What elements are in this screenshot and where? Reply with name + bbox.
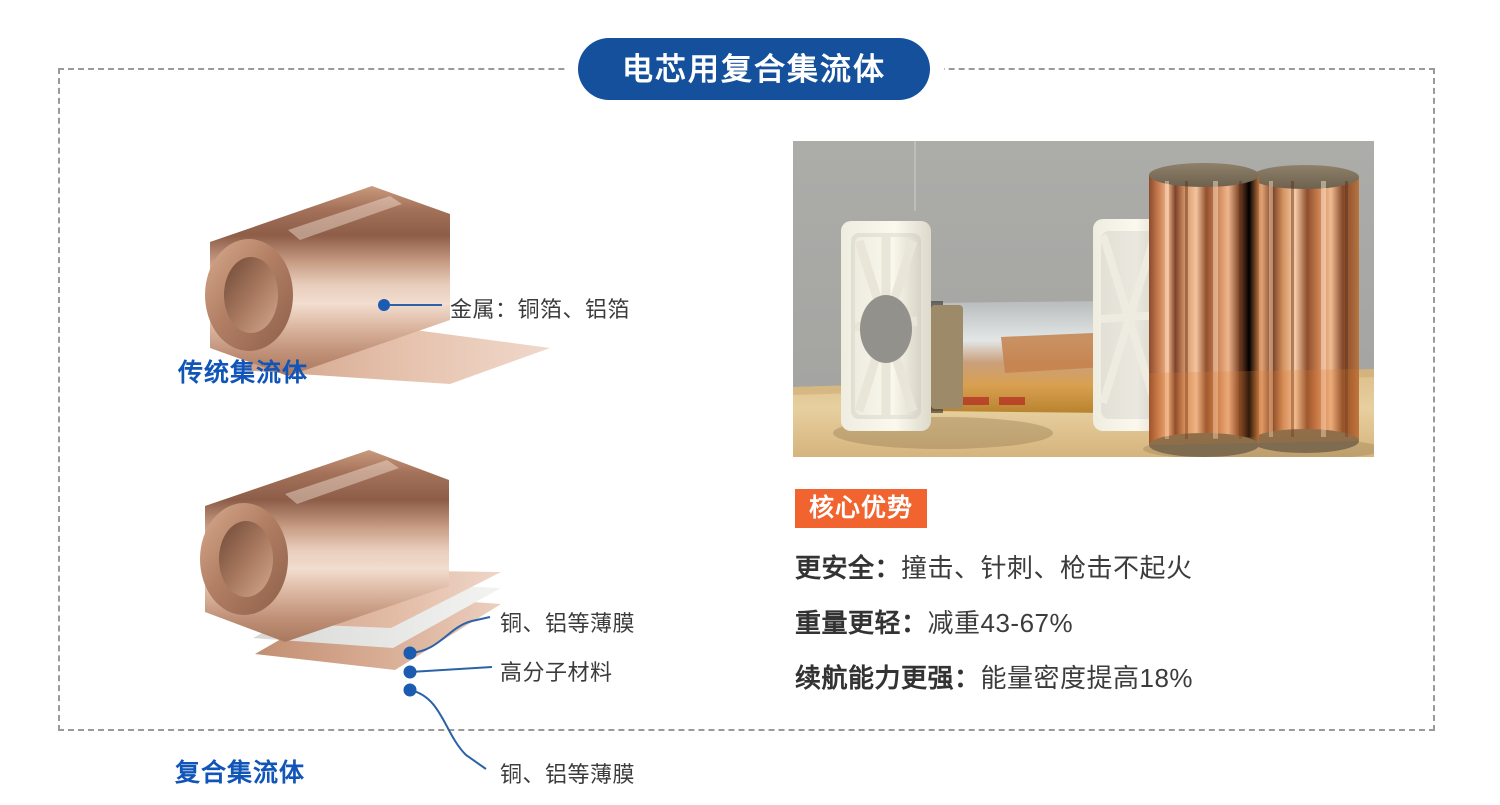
label-composite-polymer: 高分子材料	[500, 655, 613, 687]
dot-marker	[404, 647, 417, 660]
advantage-key: 重量更轻：	[795, 608, 928, 638]
advantage-item-weight: 重量更轻：减重43-67%	[795, 603, 1073, 640]
label-composite-film-bottom: 铜、铝等薄膜	[500, 757, 635, 789]
advantage-key: 更安全：	[795, 553, 901, 583]
advantage-value: 减重43-67%	[928, 608, 1074, 638]
advantage-item-range: 续航能力更强：能量密度提高18%	[795, 658, 1193, 695]
caption-composite: 复合集流体	[175, 753, 305, 789]
dot-marker	[378, 299, 390, 311]
advantage-badge: 核心优势	[795, 489, 927, 528]
diagram-traditional: 金属：铜箔、铝箔 传统集流体	[90, 150, 750, 410]
dot-marker	[404, 684, 417, 697]
label-composite-film-top: 铜、铝等薄膜	[500, 606, 635, 638]
page-title-badge: 电芯用复合集流体	[578, 38, 930, 100]
copper-foil-rolls-photo	[793, 141, 1374, 457]
advantage-value: 撞击、针刺、枪击不起火	[901, 553, 1193, 583]
page-title: 电芯用复合集流体	[622, 54, 886, 85]
label-traditional-metal: 金属：铜箔、铝箔	[450, 292, 630, 324]
diagram-composite: 铜、铝等薄膜 高分子材料 铜、铝等薄膜 复合集流体	[90, 430, 750, 690]
photo-illustration	[793, 141, 1374, 457]
left-illustrations-panel: 金属：铜箔、铝箔 传统集流体	[90, 150, 750, 690]
caption-traditional: 传统集流体	[178, 353, 308, 389]
advantage-key: 续航能力更强：	[795, 663, 981, 693]
dot-marker	[404, 666, 417, 679]
advantage-badge-label: 核心优势	[809, 496, 913, 521]
advantage-value: 能量密度提高18%	[981, 663, 1194, 693]
advantage-item-safety: 更安全：撞击、针刺、枪击不起火	[795, 548, 1193, 585]
